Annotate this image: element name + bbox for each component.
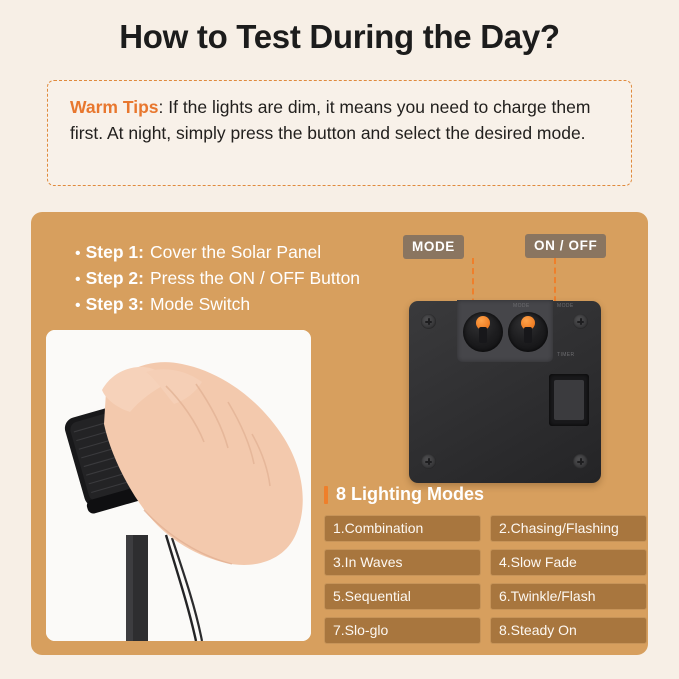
instructions-card: • Step 1: Cover the Solar Panel • Step 2… <box>31 212 648 655</box>
hand-covering-solar-panel-illustration <box>46 330 311 641</box>
warm-tips-text: Warm Tips: If the lights are dim, it mea… <box>70 95 611 146</box>
controller-panel-illustration: MODE MODE TIMER <box>409 301 601 483</box>
mode-item: 4.Slow Fade <box>490 549 647 576</box>
callout-badge-onoff: ON / OFF <box>525 234 606 258</box>
onoff-button-icon <box>508 312 548 352</box>
callout-badge-mode: MODE <box>403 235 464 259</box>
mode-button-icon <box>463 312 503 352</box>
infographic-page: How to Test During the Day? Warm Tips: I… <box>0 0 679 679</box>
mode-item: 1.Combination <box>324 515 481 542</box>
step-value: Press the ON / OFF Button <box>150 266 360 291</box>
solar-panel-photo <box>46 330 311 641</box>
step-item: • Step 3: Mode Switch <box>75 292 415 318</box>
mode-item: 2.Chasing/Flashing <box>490 515 647 542</box>
accent-bar <box>324 486 328 504</box>
port-cutout <box>549 374 589 426</box>
bullet-icon: • <box>75 267 81 292</box>
screw-icon <box>573 454 588 469</box>
lighting-modes-title: 8 Lighting Modes <box>336 484 484 505</box>
warm-tips-label: Warm Tips <box>70 97 159 117</box>
device-micro-label: MODE <box>513 303 530 309</box>
mode-item: 5.Sequential <box>324 583 481 610</box>
mode-item: 3.In Waves <box>324 549 481 576</box>
bullet-icon: • <box>75 241 81 266</box>
button-stem <box>524 327 532 343</box>
step-item: • Step 2: Press the ON / OFF Button <box>75 266 415 292</box>
mode-item: 8.Steady On <box>490 617 647 644</box>
lighting-modes-section: 8 Lighting Modes 1.Combination 2.Chasing… <box>324 484 624 644</box>
warm-tips-box: Warm Tips: If the lights are dim, it mea… <box>47 80 632 186</box>
steps-list: • Step 1: Cover the Solar Panel • Step 2… <box>75 240 415 318</box>
lighting-modes-grid: 1.Combination 2.Chasing/Flashing 3.In Wa… <box>324 515 624 644</box>
step-label: Step 1: <box>86 240 144 265</box>
step-label: Step 3: <box>86 292 144 317</box>
screw-icon <box>573 314 588 329</box>
button-stem <box>479 327 487 343</box>
step-item: • Step 1: Cover the Solar Panel <box>75 240 415 266</box>
device-micro-label: TIMER <box>557 352 575 358</box>
step-value: Mode Switch <box>150 292 250 317</box>
step-value: Cover the Solar Panel <box>150 240 321 265</box>
bullet-icon: • <box>75 293 81 318</box>
lighting-modes-heading: 8 Lighting Modes <box>324 484 624 505</box>
port-inner <box>554 380 584 420</box>
button-plate: MODE MODE TIMER <box>457 300 553 362</box>
screw-icon <box>421 314 436 329</box>
mode-item: 6.Twinkle/Flash <box>490 583 647 610</box>
page-title: How to Test During the Day? <box>0 18 679 56</box>
mode-item: 7.Slo-glo <box>324 617 481 644</box>
step-label: Step 2: <box>86 266 144 291</box>
screw-icon <box>421 454 436 469</box>
device-micro-label: MODE <box>557 303 574 309</box>
